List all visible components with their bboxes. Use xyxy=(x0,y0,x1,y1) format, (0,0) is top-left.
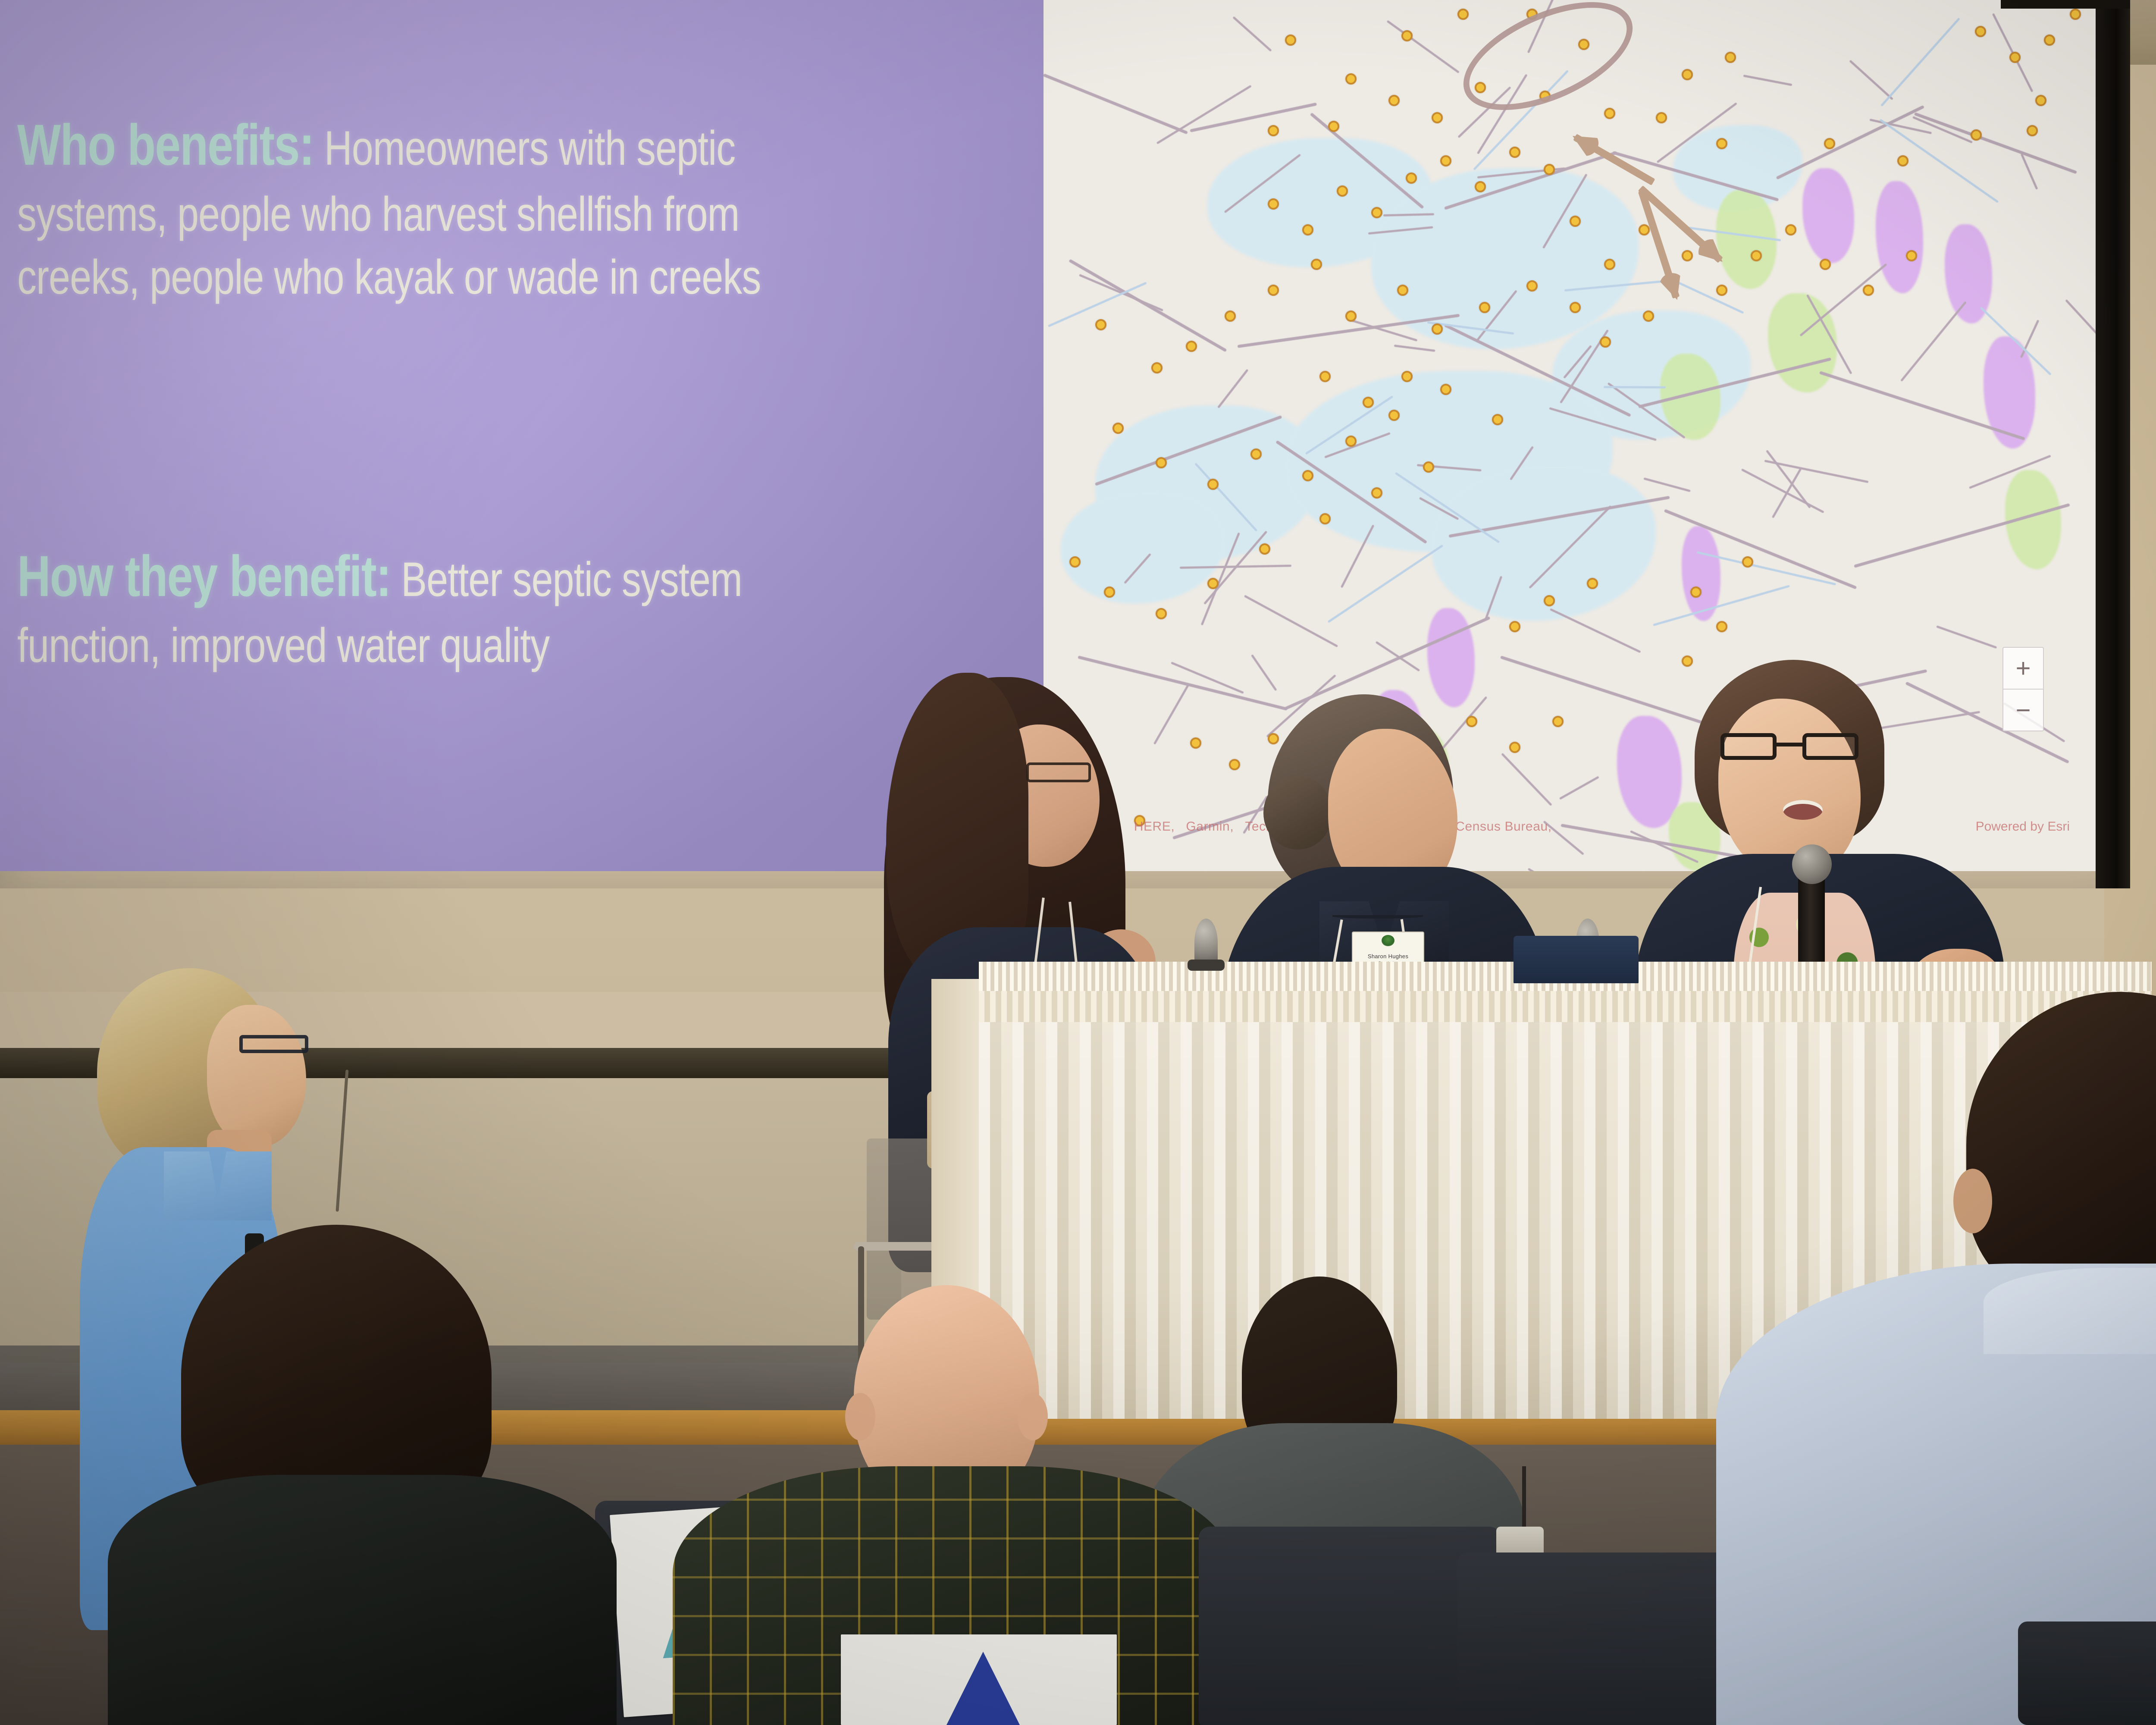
map-road-line xyxy=(1743,75,1792,86)
map-septic-point[interactable] xyxy=(1225,310,1236,322)
map-septic-point[interactable] xyxy=(1897,155,1908,166)
map-septic-point[interactable] xyxy=(1207,479,1219,490)
map-road-line xyxy=(1387,20,1460,74)
esri-web-map[interactable]: + − VGIN,Esri,HERE,Garmin,Technologies, … xyxy=(1044,0,2096,871)
map-septic-point[interactable] xyxy=(1544,595,1555,606)
panelist-left-glasses-icon xyxy=(1026,762,1091,782)
map-road-line xyxy=(1527,868,1567,871)
map-septic-point[interactable] xyxy=(1570,216,1581,227)
zoom-out-icon[interactable]: − xyxy=(2003,690,2043,731)
map-water-body xyxy=(1061,492,1225,604)
map-septic-point[interactable] xyxy=(1725,52,1736,63)
map-powered-by: Powered by Esri xyxy=(1976,819,2070,834)
map-septic-point[interactable] xyxy=(1466,716,1477,727)
map-road-line xyxy=(1905,681,2069,763)
map-septic-point[interactable] xyxy=(1401,371,1413,382)
theatre-seat-4[interactable] xyxy=(2018,1621,2156,1725)
map-road-line xyxy=(1376,641,1420,672)
map-septic-point[interactable] xyxy=(2035,95,2046,106)
map-septic-point[interactable] xyxy=(1682,250,1693,261)
map-septic-point[interactable] xyxy=(1751,250,1762,261)
panelist-right-mouth-speaking xyxy=(1783,800,1823,820)
slide-label-who: Who benefits: xyxy=(17,113,314,177)
map-septic-point[interactable] xyxy=(1337,185,1348,197)
map-septic-point[interactable] xyxy=(1268,285,1279,296)
map-road-line xyxy=(2020,320,2040,358)
map-attribution: VGIN,Esri,HERE,Garmin,Technologies, Inc.… xyxy=(1048,819,2091,834)
map-septic-point[interactable] xyxy=(1397,285,1408,296)
map-septic-point[interactable] xyxy=(2070,9,2081,20)
map-septic-point[interactable] xyxy=(1302,224,1313,235)
photo-scene: and funding to support them efforts Who … xyxy=(0,0,2156,1725)
map-septic-point[interactable] xyxy=(1820,259,1831,270)
badge-name-text: Sharon Hughes xyxy=(1368,953,1408,960)
map-road-line xyxy=(1559,776,1599,800)
map-septic-point[interactable] xyxy=(1587,578,1598,589)
map-septic-point[interactable] xyxy=(1975,26,1986,37)
map-water-body xyxy=(1432,466,1656,621)
slide-label-how: How they benefit: xyxy=(17,544,391,608)
map-septic-point[interactable] xyxy=(1156,608,1167,619)
map-septic-point[interactable] xyxy=(1971,129,1982,141)
zoom-in-icon[interactable]: + xyxy=(2003,648,2043,689)
map-road-line xyxy=(1394,345,1435,352)
screen-frame-top xyxy=(2001,0,2130,9)
map-septic-point[interactable] xyxy=(1268,198,1279,210)
panelist-right-glasses-icon xyxy=(1720,733,1858,760)
map-septic-point[interactable] xyxy=(1388,410,1400,421)
map-stream-line xyxy=(1880,18,1960,107)
map-septic-point[interactable] xyxy=(1406,172,1417,184)
map-septic-point[interactable] xyxy=(1229,759,1240,770)
map-septic-point[interactable] xyxy=(1302,470,1313,481)
map-septic-point[interactable] xyxy=(1311,259,1322,270)
map-parcel-polygon xyxy=(1802,168,1854,263)
map-septic-point[interactable] xyxy=(1156,457,1167,468)
map-parcel-polygon xyxy=(1945,224,1992,323)
map-road-line xyxy=(1643,477,1691,492)
map-septic-point[interactable] xyxy=(1600,336,1611,348)
slide-paragraph-who: Who benefits: Homeowners with septic sys… xyxy=(17,108,845,308)
map-septic-point[interactable] xyxy=(1716,138,1727,149)
map-septic-point[interactable] xyxy=(1285,34,1296,46)
map-stream-line xyxy=(1328,544,1444,623)
map-road-line xyxy=(1500,655,1706,725)
map-septic-point[interactable] xyxy=(1423,461,1434,473)
map-road-line xyxy=(1776,105,1924,180)
map-septic-point[interactable] xyxy=(1690,586,1702,598)
map-road-line xyxy=(1078,655,1288,711)
drink-stirrer xyxy=(1522,1466,1526,1531)
table-microphone-1-base xyxy=(1188,960,1225,971)
map-septic-point[interactable] xyxy=(1328,121,1339,132)
map-septic-point[interactable] xyxy=(1682,69,1693,80)
badge-org-logo-icon xyxy=(1382,935,1395,946)
map-septic-point[interactable] xyxy=(1319,371,1331,382)
map-attribution-item: Garmin, xyxy=(1186,819,1234,834)
panelist-center-hair-bun xyxy=(1263,776,1332,850)
map-septic-point[interactable] xyxy=(1526,280,1538,292)
map-septic-point[interactable] xyxy=(1742,556,1753,568)
moderator-face xyxy=(207,1005,306,1147)
map-septic-point[interactable] xyxy=(1509,621,1520,632)
map-septic-point[interactable] xyxy=(1479,302,1490,313)
map-septic-point[interactable] xyxy=(1259,543,1270,555)
map-septic-point[interactable] xyxy=(1268,733,1279,744)
map-septic-point[interactable] xyxy=(1716,621,1727,632)
handout-blue-shape-2 xyxy=(940,1652,1026,1725)
map-septic-point[interactable] xyxy=(2027,125,2038,136)
theatre-seat-2[interactable] xyxy=(1199,1527,1501,1725)
map-septic-point[interactable] xyxy=(1363,397,1374,408)
screen-frame-right xyxy=(2096,0,2130,888)
moderator-glasses-icon xyxy=(239,1035,308,1053)
map-septic-point[interactable] xyxy=(1401,30,1413,41)
map-road-line xyxy=(1217,369,1248,408)
map-septic-point[interactable] xyxy=(1906,250,1917,261)
map-septic-point[interactable] xyxy=(1552,716,1564,727)
table-laptop[interactable] xyxy=(1514,936,1639,983)
map-road-line xyxy=(1914,112,2077,174)
panelist-center-necklace-cord xyxy=(1332,914,1423,919)
map-septic-point[interactable] xyxy=(1104,586,1115,598)
audience-bald-ear-left xyxy=(845,1393,875,1440)
map-road-line xyxy=(1874,711,1980,730)
map-septic-point[interactable] xyxy=(1440,384,1451,395)
map-parcel-polygon xyxy=(1427,608,1475,707)
map-septic-point[interactable] xyxy=(1069,556,1081,568)
map-stream-line xyxy=(1653,585,1790,626)
map-septic-point[interactable] xyxy=(1824,138,1835,149)
map-septic-point[interactable] xyxy=(1186,341,1197,352)
map-road-line xyxy=(1232,16,1272,51)
map-parcel-polygon xyxy=(1768,293,1837,392)
map-attribution-item: HERE, xyxy=(1134,819,1175,834)
map-road-line xyxy=(1244,595,1338,647)
map-septic-point[interactable] xyxy=(1207,578,1219,589)
map-road-line xyxy=(1251,655,1277,691)
map-septic-point[interactable] xyxy=(2009,52,2021,63)
map-road-line xyxy=(1766,450,1811,508)
map-septic-point[interactable] xyxy=(1432,323,1443,335)
map-septic-point[interactable] xyxy=(1345,436,1357,447)
presentation-slide: and funding to support them efforts Who … xyxy=(0,0,1044,871)
map-septic-point[interactable] xyxy=(1656,112,1667,123)
map-attribution-item: Census Bureau, xyxy=(1455,819,1552,834)
map-septic-point[interactable] xyxy=(1371,207,1382,218)
map-septic-point[interactable] xyxy=(1682,655,1693,667)
audience-member-left-body xyxy=(108,1475,617,1725)
map-septic-point[interactable] xyxy=(1371,487,1382,499)
handheld-microphone-head-icon[interactable] xyxy=(1792,844,1832,884)
map-septic-point[interactable] xyxy=(1151,362,1163,373)
map-septic-point[interactable] xyxy=(2044,34,2055,46)
map-septic-point[interactable] xyxy=(1268,125,1279,136)
map-road-line xyxy=(1741,468,1824,513)
map-road-line xyxy=(1501,753,1553,806)
map-septic-point[interactable] xyxy=(1716,285,1727,296)
map-road-line xyxy=(1550,608,1641,653)
map-zoom-control[interactable]: + − xyxy=(2002,647,2044,731)
map-road-line xyxy=(1044,73,1188,134)
map-septic-point[interactable] xyxy=(1863,285,1874,296)
map-septic-point[interactable] xyxy=(1639,224,1650,235)
handout-paper-2[interactable] xyxy=(841,1634,1117,1725)
audience-bald-ear-right xyxy=(1018,1393,1048,1440)
map-septic-point[interactable] xyxy=(1432,112,1443,123)
map-septic-point[interactable] xyxy=(1112,423,1124,434)
map-septic-point[interactable] xyxy=(1604,259,1615,270)
map-road-line xyxy=(1849,60,1893,100)
map-septic-point[interactable] xyxy=(1440,155,1451,166)
map-septic-point[interactable] xyxy=(1475,181,1486,192)
map-road-line xyxy=(1900,301,1967,382)
map-septic-point[interactable] xyxy=(1544,164,1555,175)
map-parcel-polygon xyxy=(1617,716,1682,828)
map-septic-point[interactable] xyxy=(1570,302,1581,313)
map-septic-point[interactable] xyxy=(1095,319,1106,330)
map-septic-point[interactable] xyxy=(1604,108,1615,119)
map-septic-point[interactable] xyxy=(1345,73,1357,85)
map-road-line xyxy=(1764,460,1869,483)
audience-right-shirt-collar xyxy=(1984,1268,2156,1354)
map-septic-point[interactable] xyxy=(1509,742,1520,753)
map-septic-point[interactable] xyxy=(1190,737,1201,749)
map-septic-point[interactable] xyxy=(1345,310,1357,322)
map-road-line xyxy=(1937,625,1997,649)
map-septic-point[interactable] xyxy=(1457,9,1469,20)
map-septic-point[interactable] xyxy=(1492,414,1503,425)
map-septic-point[interactable] xyxy=(1785,224,1796,235)
map-septic-point[interactable] xyxy=(1250,448,1262,460)
map-septic-point[interactable] xyxy=(1509,147,1520,158)
panel-table-skirt-second-band xyxy=(979,991,2152,1022)
map-septic-point[interactable] xyxy=(1643,310,1654,322)
map-septic-point[interactable] xyxy=(1319,513,1331,524)
map-road-line xyxy=(1156,85,1251,144)
map-road-line xyxy=(2065,299,2096,353)
audience-right-ear xyxy=(1953,1169,1992,1233)
map-septic-point[interactable] xyxy=(1388,95,1400,106)
map-road-line xyxy=(1190,103,1317,132)
map-road-line xyxy=(1153,684,1190,744)
slide-paragraph-how: How they benefit: Better septic system f… xyxy=(17,539,845,677)
map-parcel-polygon xyxy=(1876,181,1923,293)
map-highlight-ellipse xyxy=(1448,0,1648,132)
